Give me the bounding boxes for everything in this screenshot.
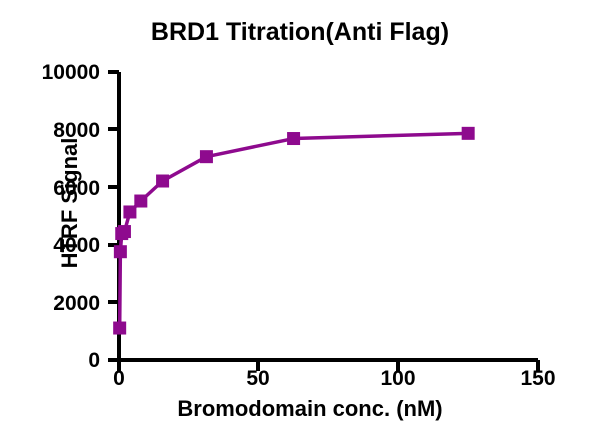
data-point-marker [114,245,127,258]
data-point-marker [156,175,169,188]
data-point-marker [200,150,213,163]
data-series-markers [113,127,475,335]
plot-canvas [0,0,600,448]
data-point-marker [287,132,300,145]
axis-lines [119,72,538,360]
data-point-marker [462,127,475,140]
data-series-line [120,133,469,328]
chart-figure: BRD1 Titration(Anti Flag) HTRF Signal Br… [0,0,600,448]
data-point-marker [113,322,126,335]
data-point-marker [118,225,131,238]
data-point-marker [134,195,147,208]
